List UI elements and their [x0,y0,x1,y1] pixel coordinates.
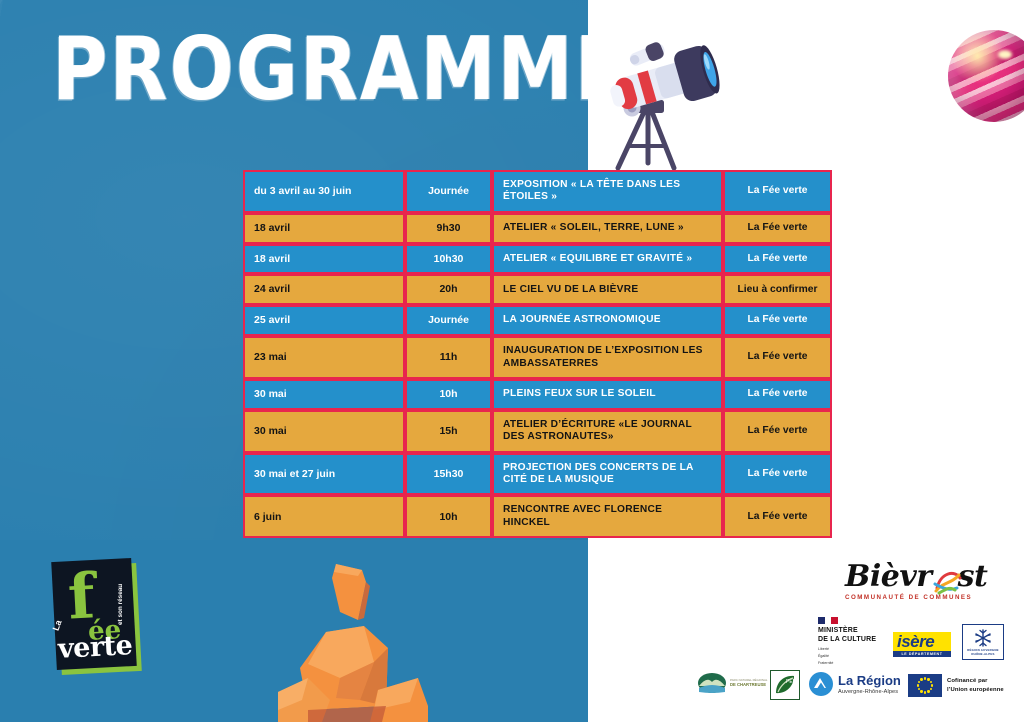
rocks-icon [278,560,428,722]
parc-naturel-text: PARC NATUREL RÉGIONAL DE CHARTREUSE [730,678,768,688]
cell-event: PLEINS FEUX SUR LE SOLEIL [492,379,723,410]
table-row[interactable]: 23 mai 11h INAUGURATION DE L’EXPOSITION … [243,336,832,379]
cell-time: 10h30 [405,244,492,275]
french-flag-icon [818,617,838,624]
la-region-subtitle: Auvergne-Rhône-Alpes [838,689,901,695]
ministere-culture-line1: MINISTÈRE [818,627,888,636]
eu-star-icon [918,681,920,683]
parc-mountain-icon [697,672,727,694]
cell-place: La Fée verte [723,213,832,244]
cell-event: LA JOURNÉE ASTRONOMIQUE [492,305,723,336]
cell-time: 10h [405,495,492,538]
cell-time: 20h [405,274,492,305]
isere-logo-box: isère [893,632,951,651]
parc-naturel-line2: DE CHARTREUSE [730,682,768,688]
fee-verte-verte-label: verte [57,630,133,665]
cell-date: 30 mai [243,379,405,410]
cell-event: ATELIER « SOLEIL, TERRE, LUNE » [492,213,723,244]
cell-place: La Fée verte [723,305,832,336]
la-region-name: La Région [838,674,901,687]
cell-date: du 3 avril au 30 juin [243,170,405,213]
pefc-leaf-icon: PEFC [773,673,797,697]
union-europeenne-logo[interactable]: Cofinancé par l’Union européenne [908,674,1004,697]
parc-naturel-logo[interactable]: PARC NATUREL RÉGIONAL DE CHARTREUSE [697,672,768,694]
pefc-logo[interactable]: PEFC [770,670,800,700]
cell-place: La Fée verte [723,244,832,275]
ministere-motto-fraternite: Fraternité [818,661,888,666]
auvergne-rhone-alpes-logo[interactable]: RÉGION AUVERGNE RHÔNE-ALPES [962,624,1004,660]
ministere-culture-line2: DE LA CULTURE [818,636,888,645]
table-row[interactable]: 30 mai et 27 juin 15h30 PROJECTION DES C… [243,453,832,496]
cell-time: Journée [405,305,492,336]
poster-canvas: PROGRAMME [0,0,1024,722]
eu-star-icon [927,690,929,692]
table-row[interactable]: 18 avril 9h30 ATELIER « SOLEIL, TERRE, L… [243,213,832,244]
table-row[interactable]: 6 juin 10h RENCONTRE AVEC FLORENCE HINCK… [243,495,832,538]
cell-place: La Fée verte [723,495,832,538]
cell-place: La Fée verte [723,336,832,379]
ministere-motto-liberte: Liberté [818,647,888,652]
cell-event: RENCONTRE AVEC FLORENCE HINCKEL [492,495,723,538]
schedule-table: du 3 avril au 30 juin Journée EXPOSITION… [243,170,832,538]
cell-date: 18 avril [243,213,405,244]
bievre-est-name-part1: Bièvr [845,559,932,594]
eu-flag-icon [908,674,942,697]
planet-highlight [998,50,1012,59]
snowflake-icon [972,628,994,648]
union-europeenne-text: Cofinancé par l’Union européenne [947,677,1004,694]
ministere-culture-logo[interactable]: MINISTÈRE DE LA CULTURE Liberté Égalité … [818,617,888,667]
cell-time: 9h30 [405,213,492,244]
cell-place: Lieu à confirmer [723,274,832,305]
page-title: PROGRAMME [52,26,628,113]
cell-event: PROJECTION DES CONCERTS DE LA CITÉ DE LA… [492,453,723,496]
table-row[interactable]: 30 mai 10h PLEINS FEUX SUR LE SOLEIL La … [243,379,832,410]
cell-place: La Fée verte [723,379,832,410]
cell-time: Journée [405,170,492,213]
eu-star-icon [930,681,932,683]
fee-verte-logo[interactable]: f La et son réseau ée verte [48,556,140,674]
isere-wordmark: isère [897,634,947,650]
cell-date: 24 avril [243,274,405,305]
table-row[interactable]: 18 avril 10h30 ATELIER « EQUILIBRE ET GR… [243,244,832,275]
ministere-motto-egalite: Égalité [818,654,888,659]
eu-star-icon [930,688,932,690]
cell-event: EXPOSITION « LA TÊTE DANS LES ÉTOILES » [492,170,723,213]
cell-event: INAUGURATION DE L’EXPOSITION LES AMBASSA… [492,336,723,379]
bievre-est-logo[interactable]: Bièvrst COMMUNAUTÉ DE COMMUNES [845,562,1000,601]
cell-date: 30 mai et 27 juin [243,453,405,496]
telescope-icon [596,28,736,183]
cell-date: 6 juin [243,495,405,538]
auvergne-rhone-alpes-subtitle: RÉGION AUVERGNE RHÔNE-ALPES [963,648,1003,656]
cell-date: 30 mai [243,410,405,453]
cell-place: La Fée verte [723,410,832,453]
cell-date: 23 mai [243,336,405,379]
cell-time: 15h30 [405,453,492,496]
cell-event: ATELIER D’ÉCRITURE «LE JOURNAL DES ASTRO… [492,410,723,453]
la-region-logo[interactable]: La Région Auvergne-Rhône-Alpes [808,671,901,697]
table-row[interactable]: 25 avril Journée LA JOURNÉE ASTRONOMIQUE… [243,305,832,336]
svg-text:PEFC: PEFC [786,679,797,685]
table-row[interactable]: du 3 avril au 30 juin Journée EXPOSITION… [243,170,832,213]
union-europeenne-line2: l’Union européenne [947,686,1004,695]
cell-date: 18 avril [243,244,405,275]
cell-place: La Fée verte [723,170,832,213]
isere-logo[interactable]: isère LE DÉPARTEMENT [893,632,951,657]
table-row[interactable]: 30 mai 15h ATELIER D’ÉCRITURE «LE JOURNA… [243,410,832,453]
union-europeenne-line1: Cofinancé par [947,677,1004,686]
eu-star-icon [931,684,933,686]
bievre-est-subtitle: COMMUNAUTÉ DE COMMUNES [845,594,1000,601]
cell-date: 25 avril [243,305,405,336]
cell-event: ATELIER « EQUILIBRE ET GRAVITÉ » [492,244,723,275]
la-region-text: La Région Auvergne-Rhône-Alpes [838,674,901,695]
eu-star-icon [920,690,922,692]
bievre-est-wordmark: Bièvrst [845,562,1000,592]
cell-time: 11h [405,336,492,379]
cell-event: LE CIEL VU DE LA BIÈVRE [492,274,723,305]
eu-star-icon [924,691,926,693]
cell-place: La Fée verte [723,453,832,496]
page-title-text: PROGRAMME [52,26,628,113]
eu-star-icon [924,677,926,679]
schedule-table-body: du 3 avril au 30 juin Journée EXPOSITION… [243,170,832,538]
bievre-est-swoosh-icon [933,566,963,596]
isere-subtitle: LE DÉPARTEMENT [893,651,951,657]
cell-time: 15h [405,410,492,453]
eu-star-icon [917,684,919,686]
la-region-mark-icon [808,671,834,697]
table-row[interactable]: 24 avril 20h LE CIEL VU DE LA BIÈVRE Lie… [243,274,832,305]
eu-star-icon [920,678,922,680]
cell-time: 10h [405,379,492,410]
